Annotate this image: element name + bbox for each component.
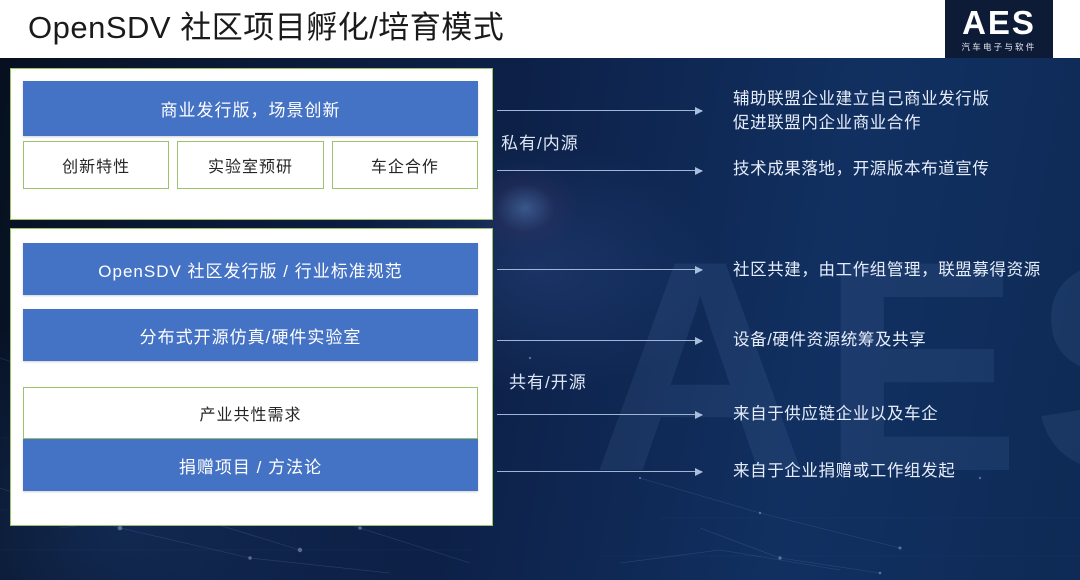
private-item-row: 创新特性 实验室预研 车企合作: [23, 141, 478, 189]
private-source-panel: 商业发行版，场景创新 创新特性 实验室预研 车企合作: [10, 68, 493, 220]
open-source-panel: OpenSDV 社区发行版 / 行业标准规范 分布式开源仿真/硬件实验室 产业共…: [10, 228, 493, 526]
logo-mark: AES: [962, 6, 1036, 39]
private-headline-box[interactable]: 商业发行版，场景创新: [23, 81, 478, 136]
side-label-shared: 共有/开源: [509, 368, 587, 393]
description-4: 设备/硬件资源统筹及共享: [733, 328, 926, 352]
description-3: 社区共建，由工作组管理，联盟募得资源: [733, 258, 1041, 282]
donated-projects-box[interactable]: 捐赠项目 / 方法论: [23, 439, 478, 491]
description-1: 辅助联盟企业建立自己商业发行版 促进联盟内企业商业合作: [733, 87, 990, 135]
arrow-4: [497, 340, 702, 341]
opensdv-community-release-box[interactable]: OpenSDV 社区发行版 / 行业标准规范: [23, 243, 478, 295]
side-label-private: 私有/内源: [501, 129, 579, 154]
arrow-5: [497, 414, 702, 415]
description-5: 来自于供应链企业以及车企: [733, 402, 938, 426]
page-title: OpenSDV 社区项目孵化/培育模式: [28, 6, 504, 50]
industry-common-requirements-box[interactable]: 产业共性需求: [23, 387, 478, 439]
description-6: 来自于企业捐赠或工作组发起: [733, 459, 955, 483]
slide-header: OpenSDV 社区项目孵化/培育模式 AES 汽车电子与软件: [0, 0, 1080, 58]
private-item-oem-cooperation[interactable]: 车企合作: [332, 141, 478, 189]
logo-subtitle: 汽车电子与软件: [962, 42, 1037, 52]
private-item-lab-research[interactable]: 实验室预研: [177, 141, 323, 189]
slide-root: AES OpenSDV 社区项目孵化/培育模式 AES 汽车电子与软件 商业发行…: [0, 0, 1080, 580]
private-item-innovation[interactable]: 创新特性: [23, 141, 169, 189]
description-2: 技术成果落地，开源版本布道宣传: [733, 157, 990, 181]
arrow-3: [497, 269, 702, 270]
arrow-6: [497, 471, 702, 472]
arrow-2: [497, 170, 702, 171]
arrow-1: [497, 110, 702, 111]
aes-logo: AES 汽车电子与软件: [945, 0, 1053, 58]
distributed-simulation-lab-box[interactable]: 分布式开源仿真/硬件实验室: [23, 309, 478, 361]
